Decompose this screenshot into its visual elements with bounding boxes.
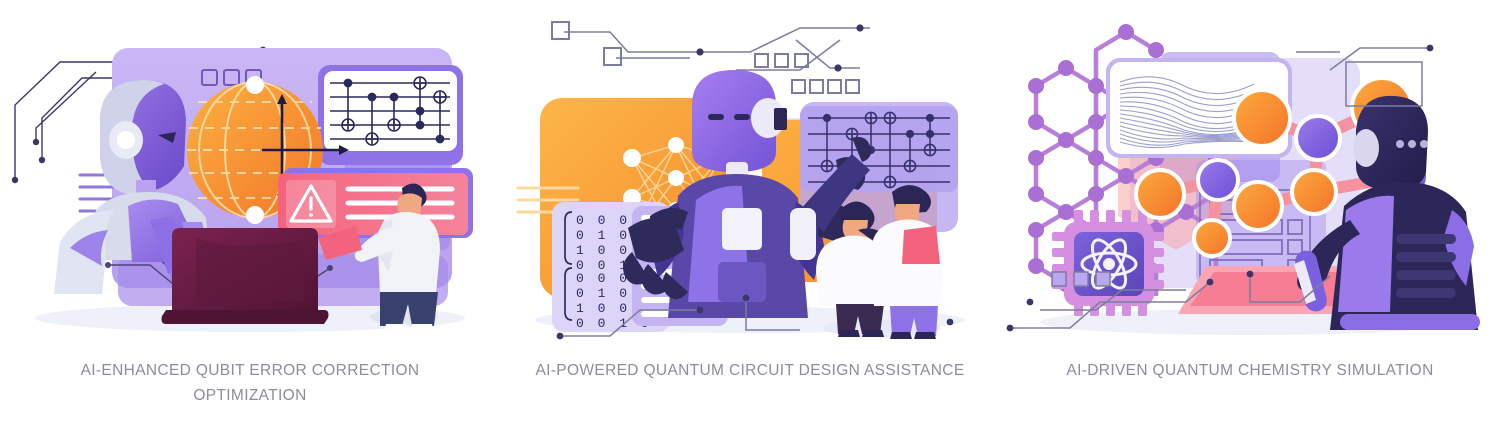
robot-ear bbox=[1353, 129, 1379, 167]
panel-3-caption: AI-DRIVEN QUANTUM CHEMISTRY SIMULATION bbox=[1020, 358, 1480, 383]
atom-orange bbox=[1194, 220, 1230, 256]
robot-shoulder-left bbox=[1338, 196, 1394, 312]
globe-node-top bbox=[246, 76, 264, 94]
robot-head-dots bbox=[1396, 140, 1428, 148]
panel-2-svg: 0 0 0 1 0 1 0 0 1 0 0 0 0 0 1 0 0 0 0 1 … bbox=[500, 10, 1000, 340]
scientist-2-folder bbox=[902, 226, 940, 264]
robot-belly-panel bbox=[718, 262, 766, 302]
panel-1-artwork bbox=[0, 10, 500, 340]
atom-orange bbox=[1292, 170, 1336, 214]
illustration-panel-1: AI-ENHANCED QUBIT ERROR CORRECTION OPTIM… bbox=[0, 0, 500, 430]
caption-line-1: AI-POWERED QUANTUM CIRCUIT DESIGN ASSIST… bbox=[520, 358, 980, 383]
laptop-base bbox=[162, 310, 329, 324]
globe-node-bottom bbox=[246, 206, 264, 224]
robot-chest-panel bbox=[722, 208, 762, 250]
atom-orange bbox=[1234, 182, 1282, 230]
caption-line-1: AI-ENHANCED QUBIT ERROR CORRECTION bbox=[20, 358, 480, 383]
panel-1-svg bbox=[0, 10, 500, 340]
atom-purple bbox=[1198, 160, 1238, 200]
illustration-board: AI-ENHANCED QUBIT ERROR CORRECTION OPTIM… bbox=[0, 0, 1500, 430]
panel-2-caption: AI-POWERED QUANTUM CIRCUIT DESIGN ASSIST… bbox=[520, 358, 980, 383]
panel-3-svg bbox=[1000, 10, 1500, 340]
atom-orange bbox=[1234, 90, 1290, 146]
error-alert-card bbox=[278, 168, 473, 238]
panel-3-artwork bbox=[1000, 10, 1500, 340]
illustration-panel-3: AI-DRIVEN QUANTUM CHEMISTRY SIMULATION bbox=[1000, 0, 1500, 430]
robot-cuff bbox=[790, 208, 816, 260]
panel-1-caption: AI-ENHANCED QUBIT ERROR CORRECTION OPTIM… bbox=[20, 358, 480, 408]
atom-orange bbox=[1136, 170, 1184, 218]
panel-2-artwork: 0 0 0 1 0 1 0 0 1 0 0 0 0 0 1 0 0 0 0 1 … bbox=[500, 10, 1000, 340]
robot-base bbox=[1340, 314, 1480, 330]
maroon-laptop bbox=[162, 228, 329, 324]
quantum-circuit-card bbox=[800, 106, 958, 192]
atom-purple bbox=[1296, 116, 1340, 160]
caption-line-2: OPTIMIZATION bbox=[20, 383, 480, 408]
illustration-panel-2: 0 0 0 1 0 1 0 0 1 0 0 0 0 0 1 0 0 0 0 1 … bbox=[500, 0, 1000, 430]
caption-line-1: AI-DRIVEN QUANTUM CHEMISTRY SIMULATION bbox=[1020, 358, 1480, 383]
